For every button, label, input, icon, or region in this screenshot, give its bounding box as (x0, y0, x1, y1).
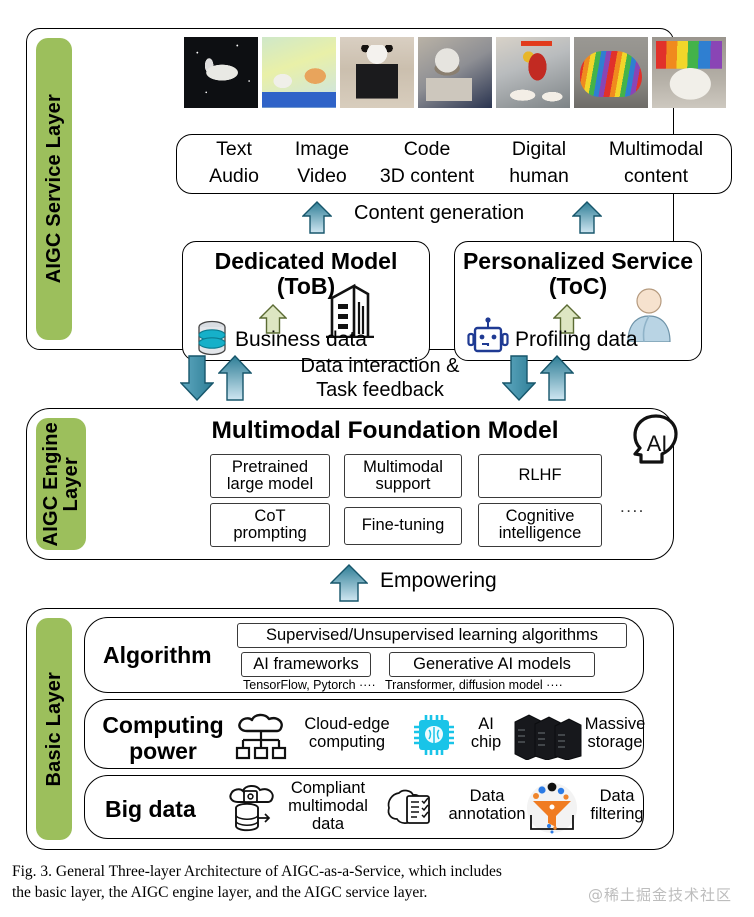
massive-storage-label-line1: Massive (585, 715, 646, 733)
content-generation-row: Content generation (176, 201, 732, 237)
algorithm-mini-transformer-diffusion: Transformer, diffusion model ···· (385, 678, 563, 692)
engine-boxes-ellipsis: .... (620, 497, 645, 517)
figure-caption-line1: Fig. 3. General Three-layer Architecture… (12, 862, 724, 883)
thumb-iron-man-cooking (496, 37, 570, 108)
data-interaction-down-arrow-right (502, 355, 536, 401)
cloud-edge-label-line1: Cloud-edge (304, 715, 389, 733)
engine-layer-label-line1: AIGC Engine (40, 422, 62, 546)
ai-chip-icon (409, 710, 459, 765)
cloud-database-icon (225, 784, 277, 839)
data-filtering-line1: Data (600, 787, 635, 805)
content-type-audio: Audio (191, 166, 277, 188)
annotation-icon (385, 788, 439, 835)
thumb-astronaut-riding-horse (184, 37, 258, 108)
massive-storage-label-line2: storage (587, 733, 642, 751)
data-interaction-down-arrow-left (180, 355, 214, 401)
compliant-multimodal-data-line3: data (312, 815, 344, 833)
engine-box-cot-prompting-label: CoTprompting (233, 508, 306, 543)
computing-power-head-label: Computing power (101, 712, 225, 765)
basic-layer-body: Algorithm Supervised/Unsupervised learni… (72, 609, 673, 849)
algorithm-box-supervised-unsupervised-label: Supervised/Unsupervised learning algorit… (266, 627, 598, 644)
engine-box-multimodal-support-label: Multimodalsupport (363, 459, 443, 494)
content-type-human: human (493, 166, 585, 188)
data-annotation-label: Data annotation (441, 788, 533, 824)
aigc-service-layer: AIGC Service Layer Text Image Code Digit… (26, 28, 674, 350)
data-filtering-label: Data filtering (581, 788, 653, 824)
content-type-text: Text (191, 139, 277, 161)
engine-layer-body: Multimodal Foundation Model AI Pretraine… (86, 409, 673, 559)
engine-layer-label-line2: Layer (60, 457, 82, 511)
empowering-label: Empowering (380, 569, 497, 593)
content-generation-label: Content generation (354, 202, 524, 225)
cloud-edge-label-line2: computing (309, 733, 385, 751)
engine-basic-connector: Empowering (330, 564, 590, 604)
empowering-up-arrow (330, 564, 368, 602)
computing-power-head-line1: Computing (102, 712, 223, 738)
thumb-cat-and-corgi-painting (262, 37, 336, 108)
engine-box-rlhf: RLHF (478, 454, 602, 498)
cloud-edge-icon (233, 712, 293, 767)
massive-storage-label: Massive storage (577, 716, 653, 752)
service-layer-body: Text Image Code Digital Multimodal Audio… (72, 29, 673, 349)
svg-text:AI: AI (647, 431, 668, 456)
engine-box-fine-tuning-label: Fine-tuning (362, 517, 445, 534)
data-annotation-line2: annotation (448, 805, 525, 823)
aigc-engine-layer: AIGC Engine Layer Multimodal Foundation … (26, 408, 674, 560)
content-type-content: content (589, 166, 723, 188)
ai-chip-label-line1: AI (478, 715, 494, 733)
compliant-multimodal-data-label: Compliant multimodal data (277, 780, 379, 833)
compliant-multimodal-data-line1: Compliant (291, 779, 365, 797)
algorithm-box-ai-frameworks-label: AI frameworks (253, 656, 358, 673)
content-type-video: Video (277, 166, 367, 188)
basic-layer-tab: Basic Layer (36, 618, 72, 840)
content-type-3d-content: 3D content (369, 166, 485, 188)
engine-box-multimodal-support: Multimodalsupport (344, 454, 462, 498)
engine-box-cognitive-intelligence-label: Cognitiveintelligence (499, 508, 582, 543)
computing-power-row: Computing power Cloud-edge computing (84, 699, 644, 769)
funnel-filter-icon (525, 782, 579, 839)
service-layer-label: AIGC Service Layer (44, 94, 64, 283)
content-type-code: Code (369, 139, 485, 161)
basic-layer: Basic Layer Algorithm Supervised/Unsuper… (26, 608, 674, 850)
computing-power-head-line2: power (129, 738, 197, 764)
algorithm-box-generative-ai-models: Generative AI models (389, 652, 595, 677)
data-annotation-line1: Data (470, 787, 505, 805)
dedicated-model-subtitle: (ToB) (183, 274, 429, 299)
engine-box-cot-prompting: CoTprompting (210, 503, 330, 547)
data-interaction-label-line2: Task feedback (270, 378, 490, 402)
watermark: @稀土掘金技术社区 (588, 884, 732, 905)
data-filtering-line2: filtering (590, 805, 643, 823)
algorithm-box-generative-ai-models-label: Generative AI models (413, 656, 571, 673)
ai-chip-label: AI chip (463, 716, 509, 752)
thumb-raccoon-astronaut (418, 37, 492, 108)
content-type-digital: Digital (493, 139, 585, 161)
algorithm-box-ai-frameworks: AI frameworks (241, 652, 371, 677)
thumb-rainbow-haired-cat (652, 37, 726, 108)
content-type-multimodal: Multimodal (589, 139, 723, 161)
personalized-service-title: Personalized Service (455, 249, 701, 274)
content-generation-arrow-left (302, 201, 332, 234)
content-types-pill: Text Image Code Digital Multimodal Audio… (176, 134, 732, 194)
engine-layer-title: Multimodal Foundation Model (150, 417, 620, 445)
ai-head-icon: AI (626, 414, 682, 471)
algorithm-box-supervised-unsupervised: Supervised/Unsupervised learning algorit… (237, 623, 627, 648)
service-engine-connector: Data interaction & Task feedback (160, 352, 600, 404)
profiling-data-label: Profiling data (515, 328, 638, 352)
engine-box-cognitive-intelligence: Cognitiveintelligence (478, 503, 602, 547)
service-layer-tab: AIGC Service Layer (36, 38, 72, 340)
generated-image-strip (184, 37, 726, 108)
data-interaction-up-arrow-right (540, 355, 574, 401)
engine-box-pretrained-large-model: Pretrainedlarge model (210, 454, 330, 498)
dedicated-model-title: Dedicated Model (183, 249, 429, 274)
server-rack-icon (513, 710, 583, 765)
thumb-panda-skateboarding (340, 37, 414, 108)
algorithm-head-label: Algorithm (103, 642, 212, 669)
figure-canvas: AIGC Service Layer Text Image Code Digit… (0, 0, 754, 917)
engine-box-rlhf-label: RLHF (518, 467, 561, 484)
algorithm-mini-tensorflow-pytorch: TensorFlow, Pytorch ···· (243, 678, 376, 692)
personalized-service-card: Personalized Service (ToC) (454, 241, 702, 361)
compliant-multimodal-data-line2: multimodal (288, 797, 368, 815)
big-data-head-label: Big data (105, 796, 196, 823)
ai-chip-label-line2: chip (471, 733, 501, 751)
dedicated-model-card: Dedicated Model (ToB) (182, 241, 430, 361)
cloud-edge-label: Cloud-edge computing (295, 716, 399, 752)
data-interaction-label: Data interaction & Task feedback (270, 354, 490, 402)
algorithm-row: Algorithm Supervised/Unsupervised learni… (84, 617, 644, 693)
content-generation-arrow-right (572, 201, 602, 234)
thumb-rainbow-pig (574, 37, 648, 108)
content-type-image: Image (277, 139, 367, 161)
data-interaction-label-line1: Data interaction & (270, 354, 490, 378)
engine-box-fine-tuning: Fine-tuning (344, 507, 462, 545)
big-data-row: Big data Compliant multimodal (84, 775, 644, 839)
basic-layer-label: Basic Layer (44, 672, 64, 787)
business-data-label: Business data (235, 328, 367, 352)
engine-box-pretrained-large-model-label: Pretrainedlarge model (227, 459, 313, 494)
engine-layer-tab: AIGC Engine Layer (36, 418, 86, 550)
data-interaction-up-arrow-left (218, 355, 252, 401)
